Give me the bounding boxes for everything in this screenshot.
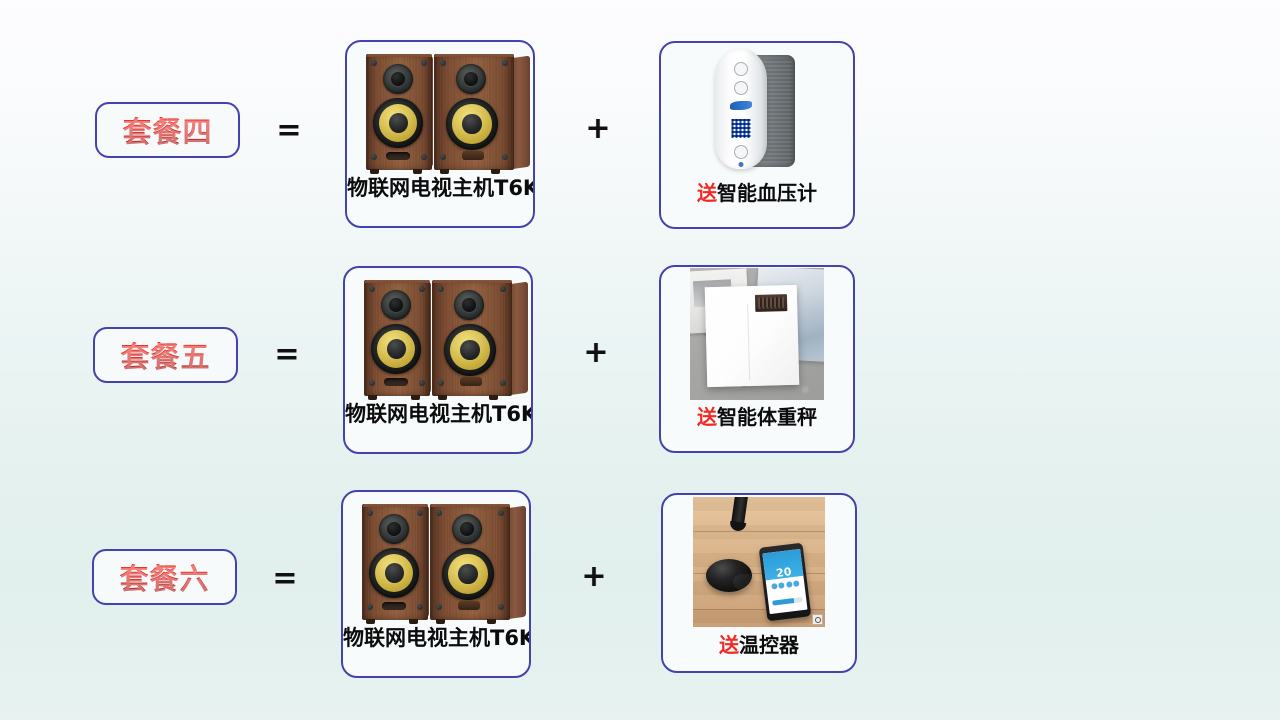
gift-product-image: 20 [663, 495, 855, 629]
equals-operator: = [270, 564, 300, 594]
main-product-image [345, 268, 531, 400]
gift-name: 智能体重秤 [717, 405, 817, 429]
main-product-card-1[interactable]: 物联网电视主机T6K [345, 40, 535, 228]
speaker-pair-icon [358, 274, 518, 400]
gift-product-image [661, 43, 853, 177]
package-chip-2[interactable]: 套餐五 [93, 327, 238, 383]
gift-product-caption: 送温控器 [663, 635, 855, 655]
main-product-caption: 物联网电视主机T6K [345, 404, 531, 425]
gift-product-card-2[interactable]: 送智能体重秤 [659, 265, 855, 453]
gift-tag: 送 [719, 633, 739, 657]
gift-tag: 送 [697, 181, 717, 205]
equals-operator: = [274, 116, 304, 146]
main-product-card-3[interactable]: 物联网电视主机T6K [341, 490, 531, 678]
slide-canvas: 套餐四 = [0, 0, 1280, 720]
equals-operator: = [272, 340, 302, 370]
gift-product-caption: 送智能体重秤 [661, 407, 853, 427]
package-label: 套餐四 [122, 109, 212, 151]
gift-name: 智能血压计 [717, 181, 817, 205]
speaker-pair-icon [360, 48, 520, 174]
phone-mockup: 20 [759, 543, 812, 622]
main-product-caption: 物联网电视主机T6K [347, 178, 533, 199]
bundle-row: 套餐五 = [0, 254, 1280, 454]
package-chip-3[interactable]: 套餐六 [92, 549, 237, 605]
blood-pressure-monitor-icon [697, 47, 817, 173]
package-label: 套餐五 [120, 334, 210, 376]
main-product-image [343, 492, 529, 624]
gift-product-image [661, 267, 853, 401]
main-product-card-2[interactable]: 物联网电视主机T6K [343, 266, 533, 454]
body-scale-icon [690, 268, 824, 400]
main-product-caption: 物联网电视主机T6K [343, 628, 529, 649]
plus-operator: + [579, 562, 609, 592]
bundle-row: 套餐六 = [0, 478, 1280, 678]
gift-tag: 送 [697, 405, 717, 429]
thermostat-icon: 20 [693, 497, 825, 627]
package-label: 套餐六 [119, 556, 209, 598]
gift-name: 温控器 [739, 633, 799, 657]
plus-operator: + [583, 114, 613, 144]
gift-product-card-3[interactable]: 20 送温控器 [661, 493, 857, 673]
gift-product-card-1[interactable]: 送智能血压计 [659, 41, 855, 229]
package-chip-1[interactable]: 套餐四 [95, 102, 240, 158]
speaker-pair-icon [356, 498, 516, 624]
main-product-image [347, 42, 533, 174]
bundle-row: 套餐四 = [0, 30, 1280, 230]
plus-operator: + [581, 338, 611, 368]
gift-product-caption: 送智能血压计 [661, 183, 853, 203]
zoom-badge-icon [812, 614, 823, 625]
